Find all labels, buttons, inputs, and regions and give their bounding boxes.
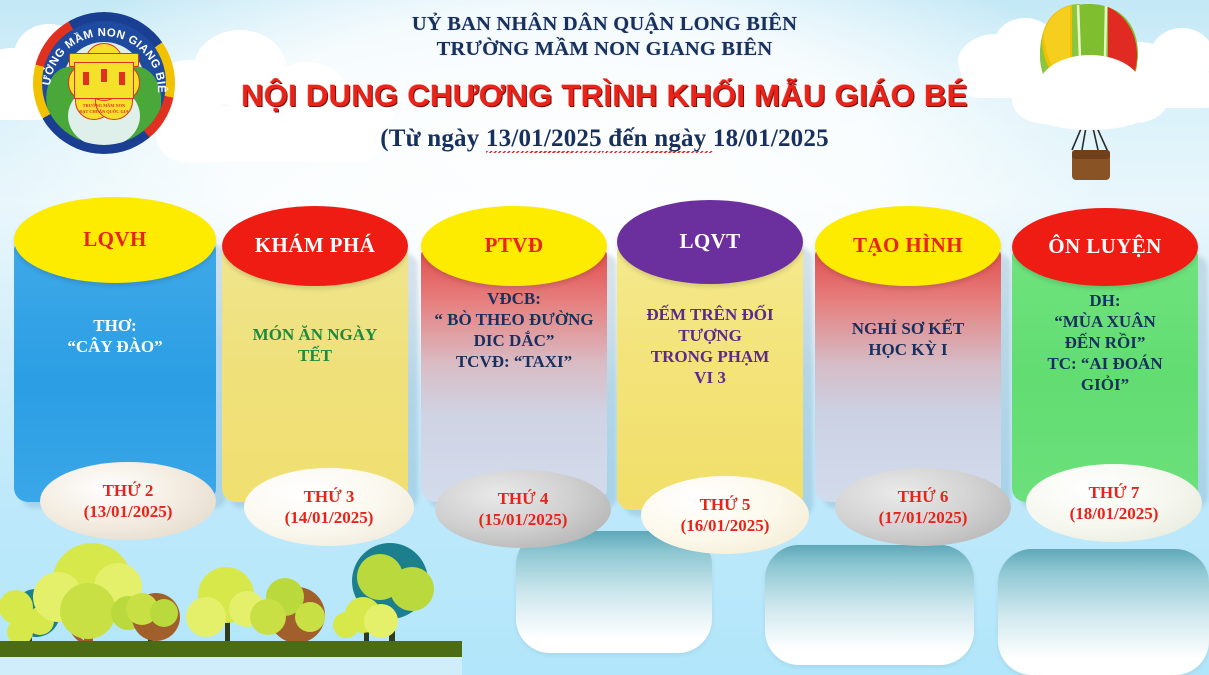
card-day-label: THỨ 3 xyxy=(304,486,355,507)
card-activity-text: VĐCB:“ BÒ THEO ĐƯỜNGDIC DẮC”TCVĐ: “TAXI” xyxy=(423,288,605,372)
schedule-cards: LQVHTHƠ:“CÂY ĐÀO”THỨ 2(13/01/2025)KHÁM P… xyxy=(0,0,1209,675)
card-day-footer[interactable]: THỨ 2(13/01/2025) xyxy=(40,462,216,540)
card-subject-cap[interactable]: ÔN LUYỆN xyxy=(1012,208,1198,286)
poster-canvas: TRƯỜNG MẦM NON ĐẠT CHUẨN QUỐC GIA TRƯỜNG… xyxy=(0,0,1209,675)
card-subject-label: LQVT xyxy=(673,230,746,253)
card-day-footer[interactable]: THỨ 5(16/01/2025) xyxy=(641,476,809,554)
card-date-label: (16/01/2025) xyxy=(681,515,770,536)
card-date-label: (15/01/2025) xyxy=(479,509,568,530)
schedule-card: LQVHTHƠ:“CÂY ĐÀO”THỨ 2(13/01/2025) xyxy=(14,197,216,502)
schedule-card: KHÁM PHÁMÓN ĂN NGÀYTẾTTHỨ 3(14/01/2025) xyxy=(222,206,408,502)
card-day-footer[interactable]: THỨ 4(15/01/2025) xyxy=(435,470,611,548)
card-date-label: (18/01/2025) xyxy=(1070,503,1159,524)
card-subject-label: ÔN LUYỆN xyxy=(1042,235,1167,258)
card-subject-label: TẠO HÌNH xyxy=(847,234,969,257)
card-activity-text: DH:“MÙA XUÂNĐẾN RỒI”TC: “AI ĐOÁNGIỎI” xyxy=(1014,290,1196,395)
card-subject-cap[interactable]: TẠO HÌNH xyxy=(815,206,1001,286)
card-activity-text: MÓN ĂN NGÀYTẾT xyxy=(224,324,406,366)
card-day-label: THỨ 5 xyxy=(700,494,751,515)
card-day-footer[interactable]: THỨ 3(14/01/2025) xyxy=(244,468,414,546)
schedule-card: TẠO HÌNHNGHỈ SƠ KẾTHỌC KỲ ITHỨ 6(17/01/2… xyxy=(815,206,1001,502)
card-subject-label: KHÁM PHÁ xyxy=(249,234,381,257)
card-day-footer[interactable]: THỨ 6(17/01/2025) xyxy=(835,468,1011,546)
card-subject-cap[interactable]: KHÁM PHÁ xyxy=(222,206,408,286)
card-subject-cap[interactable]: LQVT xyxy=(617,200,803,284)
card-day-footer[interactable]: THỨ 7(18/01/2025) xyxy=(1026,464,1202,542)
card-activity-text: ĐẾM TRÊN ĐỐITƯỢNGTRONG PHẠMVI 3 xyxy=(619,304,801,388)
card-subject-label: PTVĐ xyxy=(479,234,550,257)
card-subject-cap[interactable]: LQVH xyxy=(14,197,216,283)
schedule-card: PTVĐVĐCB:“ BÒ THEO ĐƯỜNGDIC DẮC”TCVĐ: “T… xyxy=(421,206,607,502)
card-day-label: THỨ 4 xyxy=(498,488,549,509)
card-date-label: (17/01/2025) xyxy=(879,507,968,528)
card-subject-cap[interactable]: PTVĐ xyxy=(421,206,607,286)
card-day-label: THỨ 7 xyxy=(1089,482,1140,503)
card-date-label: (13/01/2025) xyxy=(84,501,173,522)
schedule-card: LQVTĐẾM TRÊN ĐỐITƯỢNGTRONG PHẠMVI 3THỨ 5… xyxy=(617,200,803,510)
card-day-label: THỨ 6 xyxy=(898,486,949,507)
card-activity-text: THƠ:“CÂY ĐÀO” xyxy=(16,315,214,357)
card-day-label: THỨ 2 xyxy=(103,480,154,501)
card-date-label: (14/01/2025) xyxy=(285,507,374,528)
card-subject-label: LQVH xyxy=(77,228,152,251)
schedule-card: ÔN LUYỆNDH:“MÙA XUÂNĐẾN RỒI”TC: “AI ĐOÁN… xyxy=(1012,208,1198,502)
card-activity-text: NGHỈ SƠ KẾTHỌC KỲ I xyxy=(817,318,999,360)
